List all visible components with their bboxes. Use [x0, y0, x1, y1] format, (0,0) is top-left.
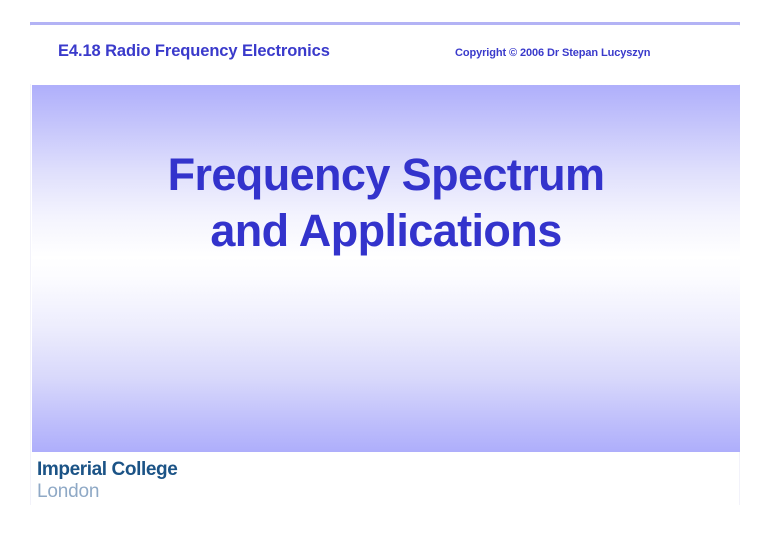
header-divider-rule	[30, 22, 740, 25]
slide-title-line-1: Frequency Spectrum	[32, 147, 740, 203]
presentation-slide: E4.18 Radio Frequency Electronics Copyri…	[0, 0, 768, 543]
copyright-notice: Copyright © 2006 Dr Stepan Lucyszyn	[455, 47, 650, 59]
imperial-college-london-logo: Imperial College London	[37, 460, 177, 501]
slide-title-line-2: and Applications	[32, 203, 740, 259]
slide-content-panel: Frequency Spectrum and Applications	[32, 85, 740, 452]
course-title: E4.18 Radio Frequency Electronics	[58, 42, 330, 61]
logo-institution-name: Imperial College	[37, 460, 177, 479]
slide-header: E4.18 Radio Frequency Electronics Copyri…	[30, 26, 740, 84]
logo-location-name: London	[37, 482, 177, 501]
slide-title-block: Frequency Spectrum and Applications	[32, 147, 740, 260]
left-border-hairline	[30, 25, 31, 505]
